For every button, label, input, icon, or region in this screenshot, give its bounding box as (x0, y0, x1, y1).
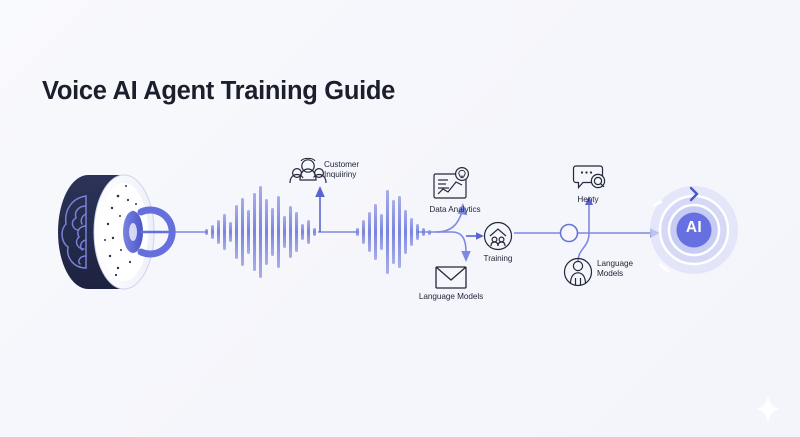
sparkle-icon (756, 396, 780, 422)
ai-badge-label: AI (672, 219, 716, 237)
data-analytics-label: Data Analytics (418, 205, 492, 215)
slide-canvas: Voice AI Agent Training Guide (0, 0, 800, 437)
henty-label: Henty (567, 195, 609, 205)
brain-speaker-icon (58, 175, 172, 289)
analytics-report-icon (434, 168, 468, 198)
person-headset-icon (565, 259, 592, 286)
audio-waveform-1-icon (205, 186, 316, 278)
language-models-label-2: Language Models (597, 259, 633, 280)
circle-node-icon (561, 225, 578, 242)
training-label: Training (476, 254, 520, 264)
people-group-icon (290, 158, 326, 183)
training-people-icon (485, 223, 512, 250)
chat-search-icon (574, 166, 605, 188)
envelope-icon (436, 267, 466, 288)
customer-inquiries-label: Customer Inquiiriny (324, 160, 359, 180)
language-models-label-1: Language Models (408, 292, 494, 302)
